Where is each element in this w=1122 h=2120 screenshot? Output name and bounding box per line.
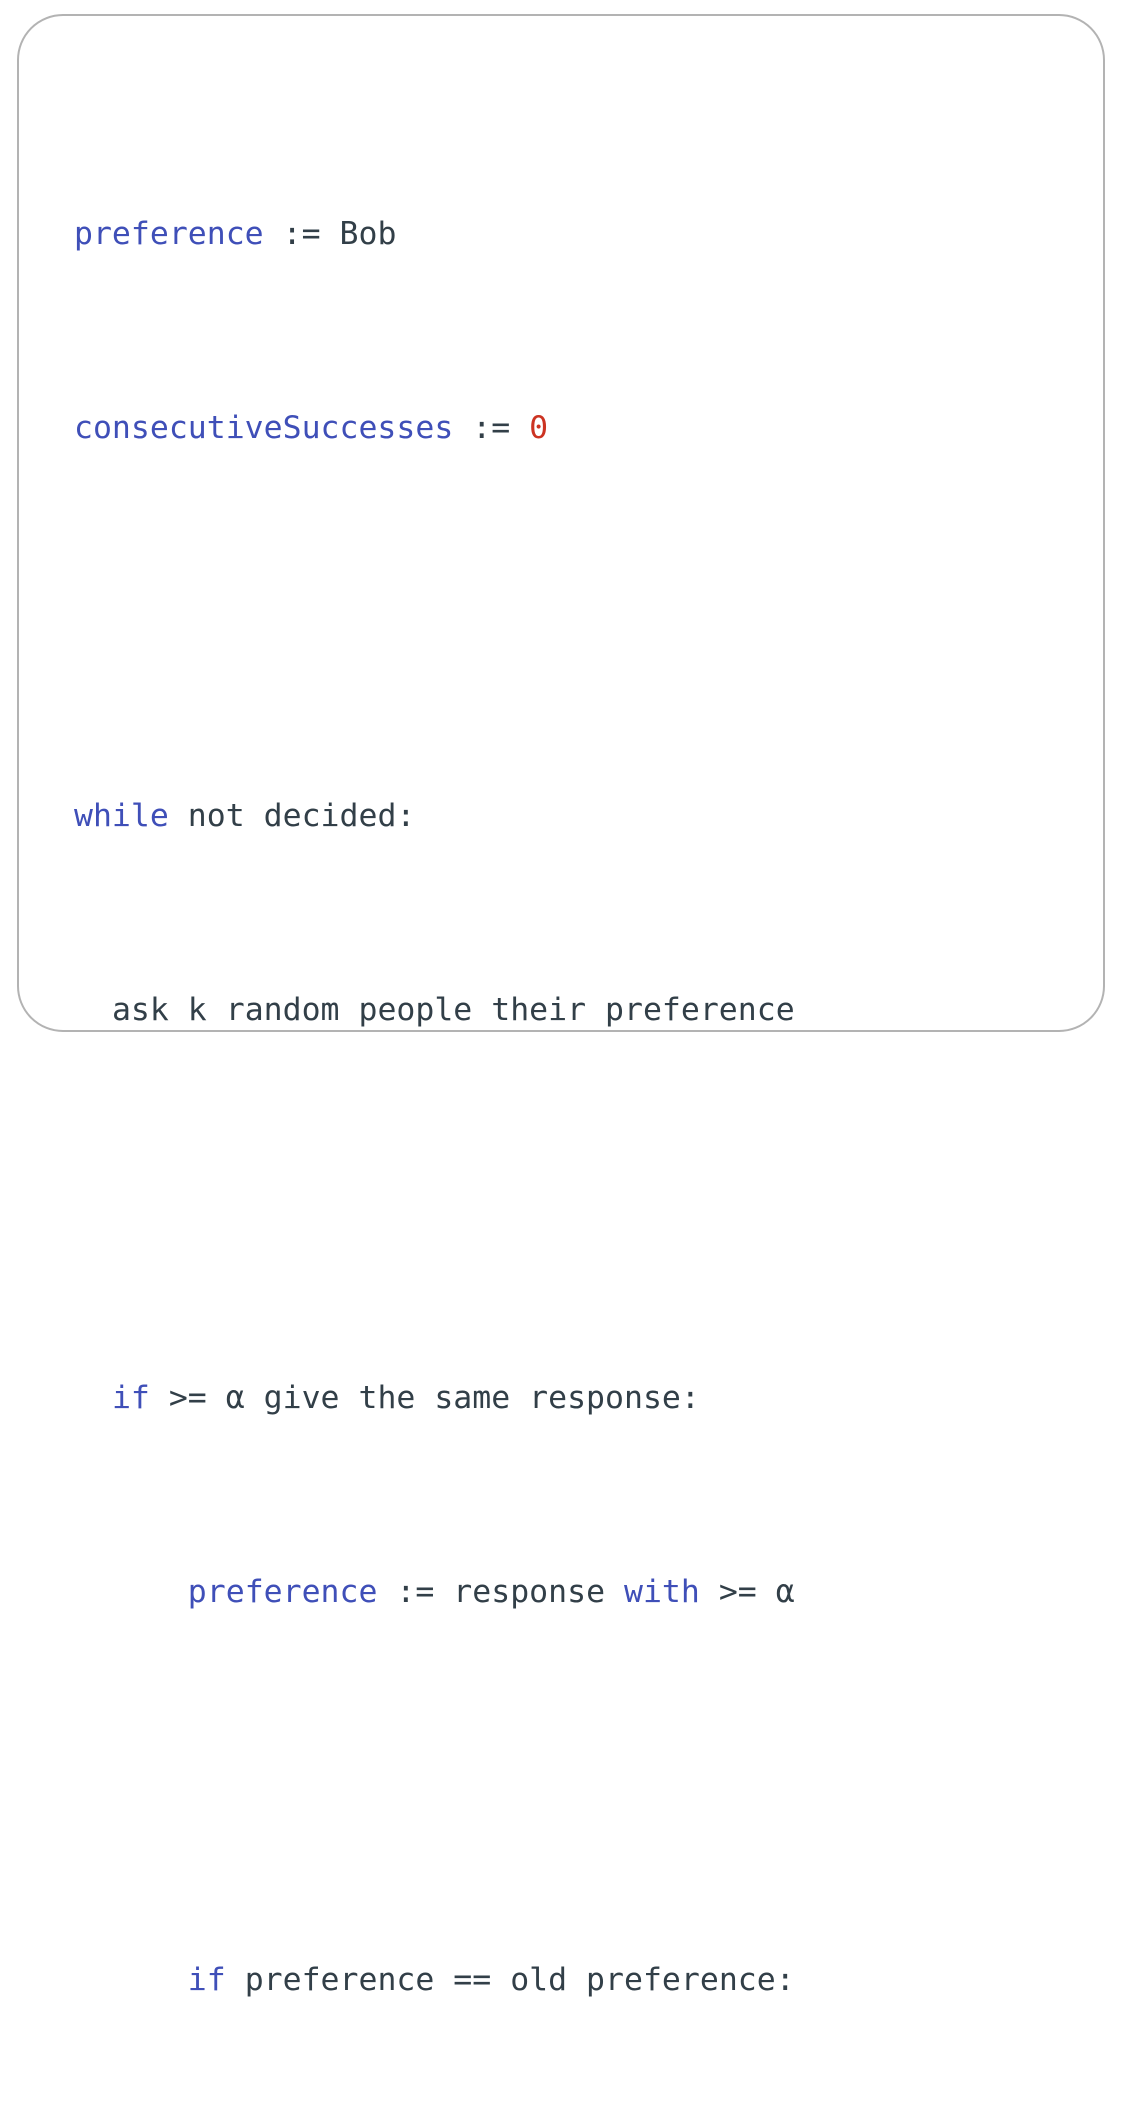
pseudocode-block: preference := Bob consecutiveSuccesses :… [74, 64, 1083, 2120]
token-statement: ask k random people their preference [112, 992, 795, 1028]
code-line-4: while not decided: [74, 792, 1083, 841]
code-line-8: preference := response with >= α [74, 1568, 1083, 1617]
token-condition: preference == old preference: [226, 1962, 795, 1998]
token-keyword-with: with [624, 1574, 700, 1610]
code-line-6-blank [74, 1180, 1083, 1229]
token-operator: := response [377, 1574, 624, 1610]
code-line-3-blank [74, 598, 1083, 647]
token-value: Bob [340, 216, 397, 252]
code-card: preference := Bob consecutiveSuccesses :… [17, 14, 1105, 1032]
token-keyword-while: while [74, 798, 169, 834]
token-operator: := [453, 410, 529, 446]
token-number: 0 [529, 410, 548, 446]
code-line-7: if >= α give the same response: [74, 1374, 1083, 1423]
token-condition: >= α give the same response: [150, 1380, 700, 1416]
token-indent [74, 1962, 188, 1998]
code-line-10: if preference == old preference: [74, 1956, 1083, 2005]
token-condition: not decided: [169, 798, 416, 834]
token-indent [74, 1380, 112, 1416]
code-line-2: consecutiveSuccesses := 0 [74, 404, 1083, 453]
token-variable: preference [74, 216, 264, 252]
token-variable: preference [188, 1574, 378, 1610]
code-line-1: preference := Bob [74, 210, 1083, 259]
token-keyword-if: if [188, 1962, 226, 1998]
token-condition: >= α [700, 1574, 795, 1610]
token-indent [74, 992, 112, 1028]
code-line-9-blank [74, 1762, 1083, 1811]
code-line-5: ask k random people their preference [74, 986, 1083, 1035]
token-variable: consecutiveSuccesses [74, 410, 453, 446]
token-keyword-if: if [112, 1380, 150, 1416]
token-indent [74, 1574, 188, 1610]
token-operator: := [264, 216, 340, 252]
